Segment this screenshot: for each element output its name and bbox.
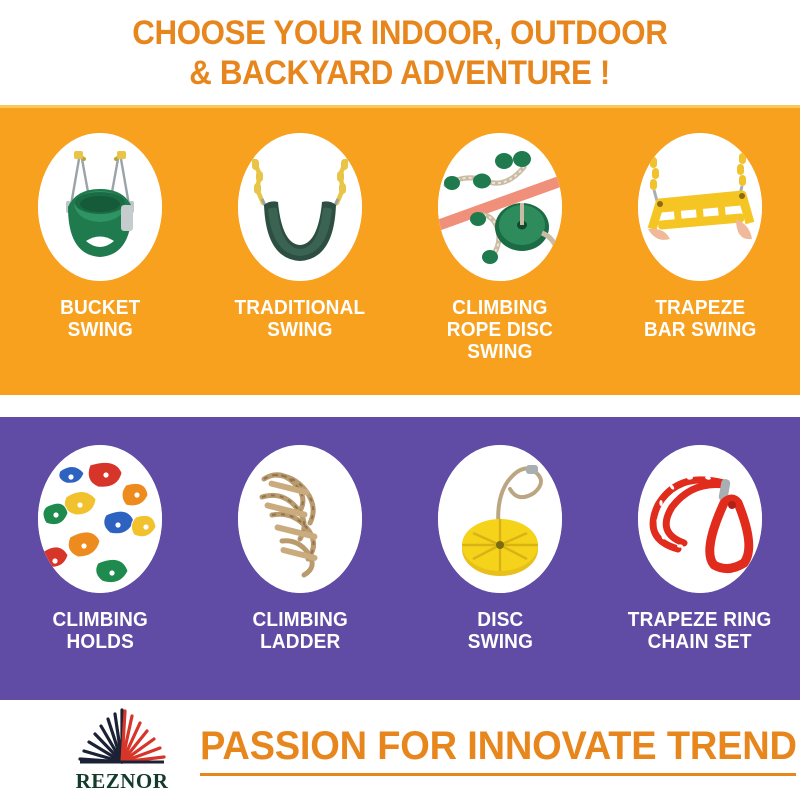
product-card-disc-swing[interactable]: DISC SWING <box>405 445 595 653</box>
headline-line-2: & BACKYARD ADVENTURE ! <box>190 53 611 93</box>
product-card-bucket-swing[interactable]: BUCKET SWING <box>5 133 195 341</box>
trapeze-bar-swing-photo <box>638 133 762 281</box>
disc-swing-photo <box>438 445 562 593</box>
product-card-traditional-swing[interactable]: TRADITIONAL SWING <box>205 133 395 341</box>
reznor-logo[interactable]: REZNOR <box>72 706 172 794</box>
header: CHOOSE YOUR INDOOR, OUTDOOR & BACKYARD A… <box>0 0 800 105</box>
tagline-underline <box>200 773 796 776</box>
traditional-swing-photo <box>238 133 362 281</box>
purple-product-band: CLIMBING HOLDS <box>0 417 800 700</box>
bucket-swing-photo <box>38 133 162 281</box>
tagline-text: PASSION FOR INNOVATE TREND <box>200 724 797 768</box>
product-label: CLIMBING HOLDS <box>52 609 147 653</box>
infographic-page: CHOOSE YOUR INDOOR, OUTDOOR & BACKYARD A… <box>0 0 800 800</box>
product-label: TRAPEZE BAR SWING <box>644 297 757 341</box>
climbing-holds-photo <box>38 445 162 593</box>
purple-product-row: CLIMBING HOLDS <box>0 417 800 700</box>
orange-product-band: BUCKET SWING <box>0 105 800 395</box>
product-label: BUCKET SWING <box>60 297 140 341</box>
product-label: CLIMBING LADDER <box>252 609 347 653</box>
product-card-climbing-ladder[interactable]: CLIMBING LADDER <box>205 445 395 653</box>
orange-product-row: BUCKET SWING <box>0 105 800 395</box>
footer: REZNOR PASSION FOR INNOVATE TREND <box>0 700 800 800</box>
product-card-trapeze-ring-chain-set[interactable]: TRAPEZE RING CHAIN SET <box>605 445 795 653</box>
product-label: TRADITIONAL SWING <box>235 297 366 341</box>
reznor-pyramid-icon <box>72 706 172 768</box>
product-card-climbing-rope-disc-swing[interactable]: CLIMBING ROPE DISC SWING <box>405 133 595 363</box>
climbing-ladder-photo <box>238 445 362 593</box>
trapeze-ring-chain-set-photo <box>638 445 762 593</box>
product-card-trapeze-bar-swing[interactable]: TRAPEZE BAR SWING <box>605 133 795 341</box>
product-label: DISC SWING <box>467 609 532 653</box>
product-card-climbing-holds[interactable]: CLIMBING HOLDS <box>5 445 195 653</box>
logo-wordmark: REZNOR <box>76 769 169 794</box>
tagline-block: PASSION FOR INNOVATE TREND <box>200 724 800 776</box>
headline-line-1: CHOOSE YOUR INDOOR, OUTDOOR <box>132 13 667 53</box>
product-label: TRAPEZE RING CHAIN SET <box>628 609 772 653</box>
climbing-rope-disc-swing-photo <box>438 133 562 281</box>
product-label: CLIMBING ROPE DISC SWING <box>447 297 553 363</box>
